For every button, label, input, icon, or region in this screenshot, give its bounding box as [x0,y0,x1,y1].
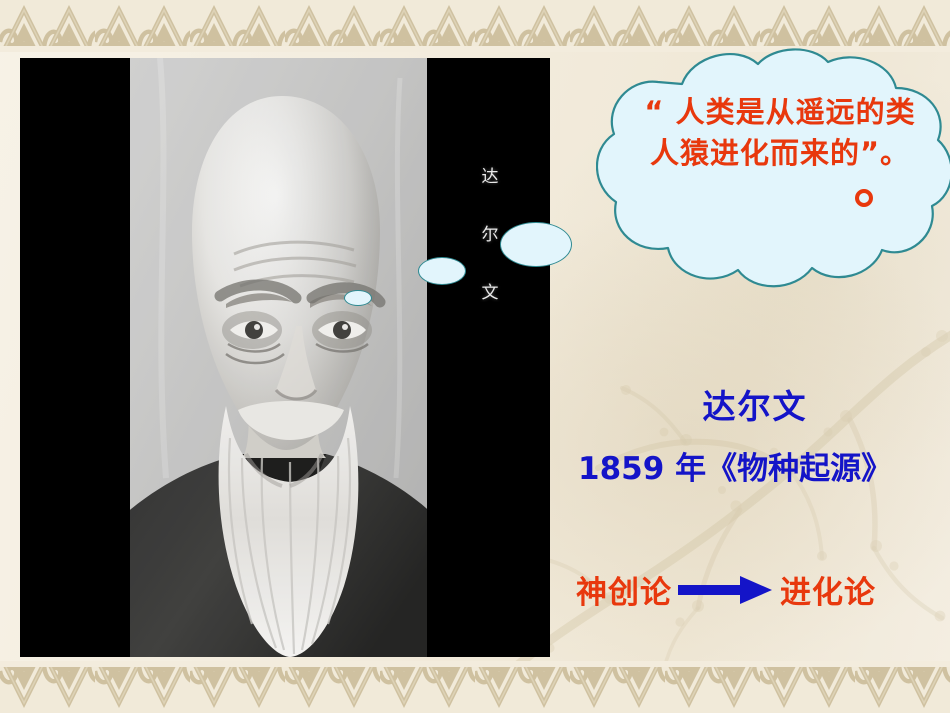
thought-tail-dot-large [500,222,572,267]
caption-char-3: 文 [470,264,510,322]
photo-panel: 达 尔 文 [20,58,550,657]
caption-char-1: 达 [470,148,510,206]
darwin-portrait-image [130,58,427,657]
thought-tail-dot-small [344,290,372,306]
theory-transition-line: 神创论 进化论 [576,567,946,612]
theory-from-label: 神创论 [576,567,672,612]
slide-canvas: 达 尔 文 “ 人类是从遥远的类人猿进化而来的”。 达尔文 1859 年《物种起… [0,0,950,713]
thought-bubble-cloud [596,48,950,310]
darwin-name-title: 达尔文 [560,380,950,428]
thought-bubble-text: “ 人类是从遥远的类人猿进化而来的”。 [630,92,930,174]
theory-to-label: 进化论 [780,567,876,612]
thought-tail-dot-medium [418,257,466,285]
right-arrow-icon [678,575,774,605]
book-reference-text: 1859 年《物种起源》 [578,448,928,491]
